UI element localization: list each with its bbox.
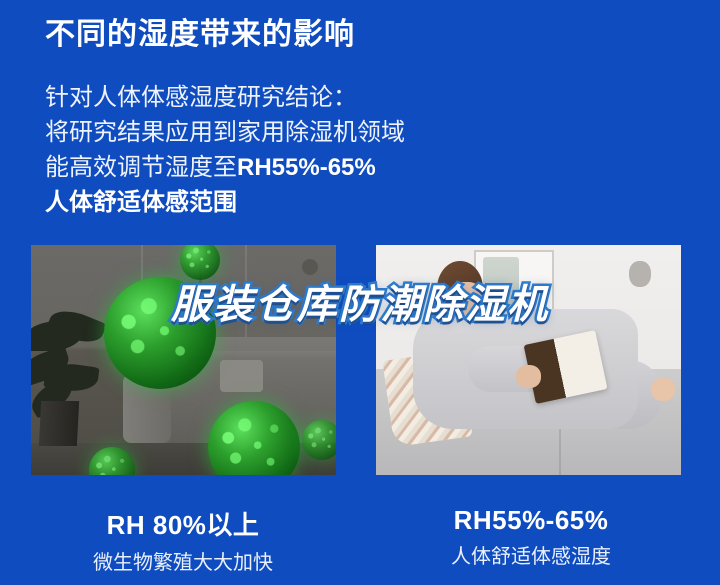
microbe-cluster-icon <box>180 245 220 280</box>
dark-room-scene <box>31 245 336 475</box>
plant-pot <box>38 401 79 446</box>
subtitle-rh-range: RH55%-65% <box>237 154 376 181</box>
caption-right-sub: 人体舒适体感湿度 <box>376 540 686 569</box>
subtitle-line-2: 将研究结果应用到家用除湿机领域 <box>45 115 405 150</box>
person-foot <box>651 378 675 401</box>
caption-left: RH 80%以上 微生物繁殖大大加快 <box>28 505 338 575</box>
wall-seam <box>245 245 247 351</box>
photo-panel-right <box>376 245 681 475</box>
sofa-cushion <box>220 360 263 392</box>
subtitle-block: 针对人体体感湿度研究结论： 将研究结果应用到家用除湿机领域 能高效调节湿度至RH… <box>45 80 405 220</box>
caption-right-title: RH55%-65% <box>376 505 686 536</box>
microbe-cluster-icon <box>302 420 336 460</box>
photo-panel-left <box>31 245 336 475</box>
light-room-scene <box>376 245 681 475</box>
wall-knob-icon <box>302 259 318 275</box>
microbe-cluster-icon <box>104 277 216 389</box>
person-face <box>449 282 483 319</box>
caption-right: RH55%-65% 人体舒适体感湿度 <box>376 505 686 569</box>
subtitle-line-3: 能高效调节湿度至RH55%-65% <box>45 150 405 185</box>
subtitle-line-4: 人体舒适体感范围 <box>45 185 405 220</box>
page-title: 不同的湿度带来的影响 <box>45 18 355 51</box>
poster-root: 不同的湿度带来的影响 针对人体体感湿度研究结论： 将研究结果应用到家用除湿机领域… <box>0 0 720 585</box>
wall-knob-icon <box>629 261 651 287</box>
subtitle-line-3-prefix: 能高效调节湿度至 <box>45 154 237 181</box>
caption-left-sub: 微生物繁殖大大加快 <box>28 546 338 575</box>
caption-left-title: RH 80%以上 <box>28 505 338 542</box>
subtitle-line-1: 针对人体体感湿度研究结论： <box>45 80 405 115</box>
person-hand <box>516 365 540 388</box>
